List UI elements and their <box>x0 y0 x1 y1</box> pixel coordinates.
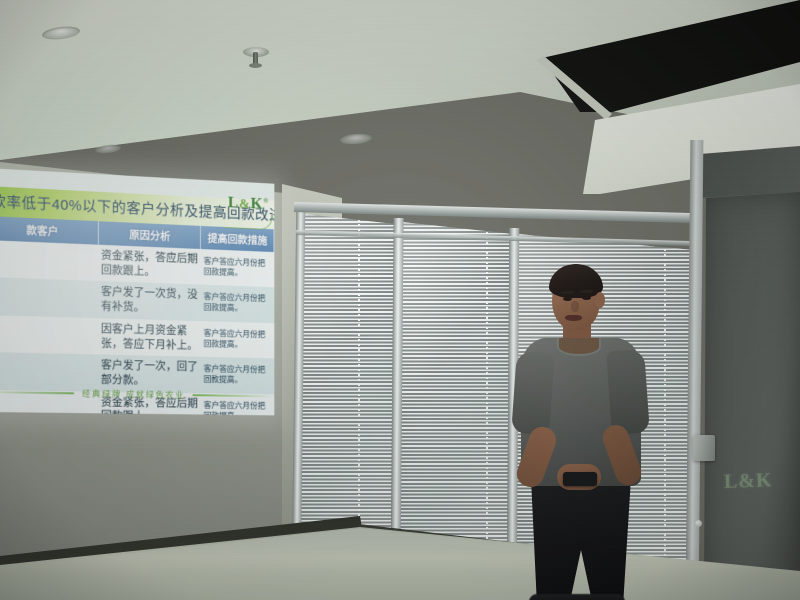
logo-ampersand: & <box>239 197 250 212</box>
cell-cause: 资金紧张，答应后期回款跟上。 <box>98 245 201 285</box>
person-sleeve-left <box>511 351 555 435</box>
cell-customer <box>0 277 98 318</box>
sprinkler-head-icon <box>243 47 269 69</box>
glass-panel-center <box>400 222 512 584</box>
door-transom <box>697 146 800 198</box>
cell-measure: 客户答应六月份把回款提高。 <box>201 321 274 359</box>
footer-rule-right <box>192 394 274 397</box>
cell-customer <box>0 240 98 281</box>
person-sleeve-right <box>606 349 650 435</box>
person-shoes <box>529 594 625 600</box>
door-handle[interactable] <box>695 520 702 527</box>
person-hair <box>549 264 603 298</box>
person-mouth <box>565 315 582 321</box>
cell-measure: 客户答应六月份把回款提高。 <box>201 357 274 394</box>
footer-rule-left <box>0 391 74 394</box>
slide-table: 款客户 原因分析 提高回款措施 资金紧张，答应后期回款跟上。 客户答应六月份把回… <box>0 216 274 415</box>
cell-measure: 客户答应六月份把回款提高。 <box>201 285 274 323</box>
lk-logo: L&K® <box>228 193 269 214</box>
presenter-person <box>505 268 655 600</box>
downlight-icon <box>340 133 373 146</box>
cell-cause: 客户发了一次货，没有补货。 <box>98 281 201 321</box>
ceiling-shading <box>0 0 560 175</box>
cell-cause: 因客户上月资金紧张，答应下月补上。 <box>98 318 201 357</box>
person-collar <box>557 338 601 356</box>
col-header-measure: 提高回款措施 <box>201 226 274 252</box>
projected-slide: 场回款率低于40%以下的客户分析及提高回款改进措施。 L&K® 款客户 原因分析… <box>0 168 274 415</box>
sprinkler-cap <box>249 63 262 68</box>
cell-customer <box>0 315 98 355</box>
photo-scene: L&K 场回款率低于40%以下的客户分析及提高回款改进措施。 L&K® <box>0 0 800 600</box>
door-logo: L&K <box>724 469 773 494</box>
registered-mark-icon: ® <box>263 197 269 205</box>
person-eye-left <box>563 297 572 301</box>
person-ear <box>595 292 605 308</box>
person-nose <box>571 301 579 312</box>
person-trousers <box>531 478 631 600</box>
footer-slogan: 经典绿牌 成就绿色农业 <box>82 388 185 401</box>
logo-letter-l: L <box>228 193 239 212</box>
glass-reflection <box>400 222 512 584</box>
frosted-glass-door[interactable] <box>700 192 800 596</box>
logo-swoosh <box>225 212 273 230</box>
handheld-device <box>563 472 597 486</box>
person-eye-right <box>582 296 591 300</box>
door-frame <box>686 140 704 600</box>
cell-measure: 客户答应六月份把回款提高。 <box>201 249 274 288</box>
door-hinge <box>693 435 715 461</box>
logo-letter-k: K <box>251 194 264 213</box>
table-row: 因客户上月资金紧张，答应下月补上。 客户答应六月份把回款提高。 <box>0 315 274 359</box>
